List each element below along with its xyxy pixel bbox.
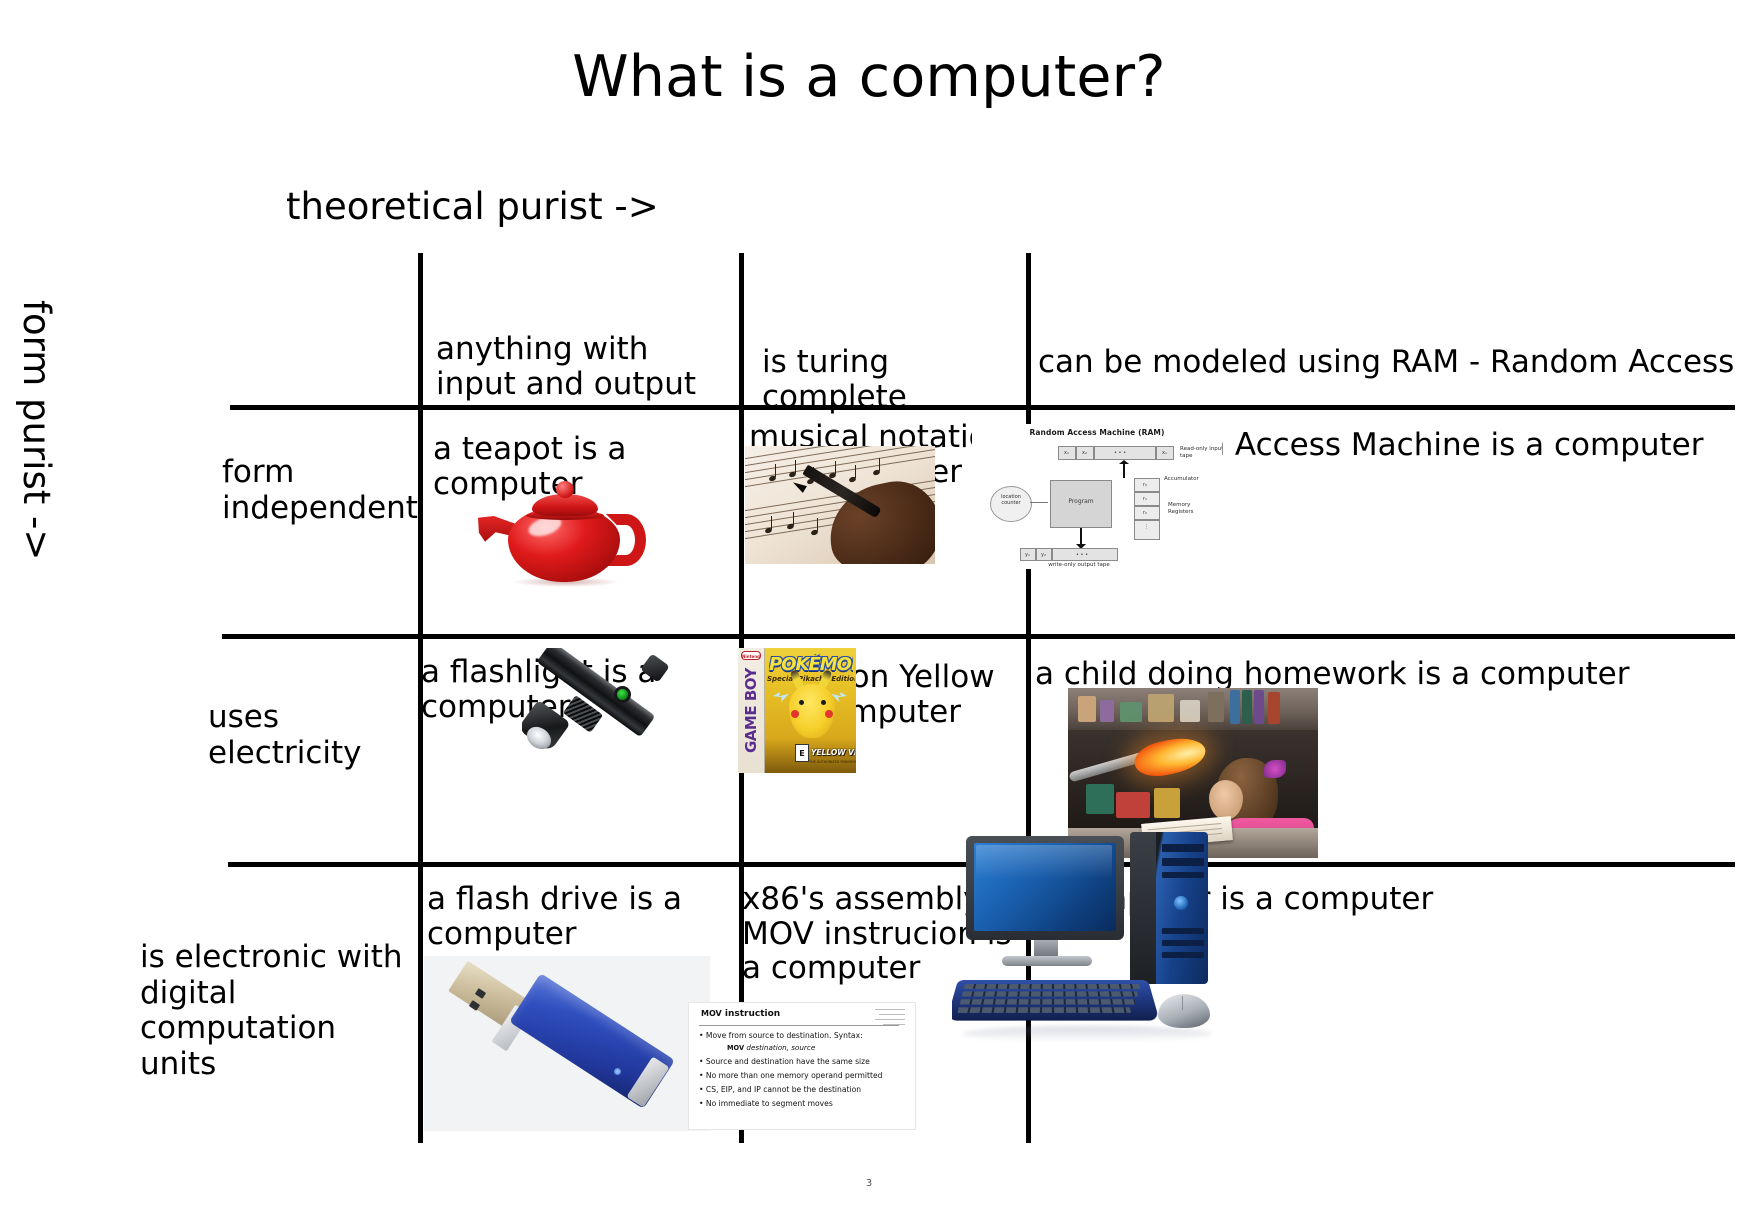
- column-header-turing-complete: is turing complete: [762, 345, 1032, 414]
- column-header-input-output: anything with input and output: [436, 332, 726, 401]
- nintendo-logo: Nintendo: [741, 651, 761, 660]
- pokemon-subtitle: Special Pikachu Edition: [767, 675, 855, 683]
- ram-register-ellipsis: ⋮: [1144, 524, 1149, 530]
- ram-input-cell-0: x₁: [1064, 450, 1069, 456]
- ram-location-counter-label: location counter: [994, 494, 1028, 507]
- pokemon-logo: POKÉMON: [769, 654, 853, 675]
- page-title: What is a computer?: [0, 46, 1738, 109]
- teapot-photo: [470, 470, 660, 595]
- ram-input-cell-1: x₂: [1082, 450, 1087, 456]
- ram-output-cell-0: y₁: [1025, 552, 1030, 558]
- mov-bullet-0: Move from source to destination. Syntax:: [699, 1031, 863, 1040]
- usb-flash-drive-photo: [424, 956, 710, 1131]
- mov-slide-title: MOV instruction: [701, 1009, 780, 1019]
- mov-syntax-mnemonic: MOV: [727, 1044, 744, 1052]
- flashlight-photo: [522, 648, 670, 760]
- mov-bullet-4: No immediate to segment moves: [699, 1099, 833, 1108]
- matrix-horizontal-divider-2: [222, 634, 1735, 639]
- flashlight-power-button-icon: [614, 686, 631, 703]
- cell-label-flash-drive: a flash drive is a computer: [427, 882, 717, 951]
- mov-mnemonic: MOV: [701, 1009, 722, 1018]
- ram-diagram: Random Access Machine (RAM) x₁ x₂ • • • …: [972, 424, 1222, 569]
- ram-output-cell-1: y₂: [1041, 552, 1046, 558]
- ram-output-tape-label: write-only output tape: [1024, 562, 1134, 569]
- ram-input-cell-n: xₙ: [1162, 450, 1167, 456]
- desktop-computer-photo: [952, 828, 1252, 1043]
- mov-title-rest: instruction: [722, 1009, 780, 1019]
- x-axis-label: theoretical purist ->: [286, 185, 659, 228]
- ram-memory-registers-label: Memory Registers: [1168, 502, 1212, 516]
- ram-register-1: r₁: [1143, 496, 1147, 502]
- ram-diagram-title: Random Access Machine (RAM): [972, 428, 1222, 437]
- ram-program-label: Program: [1052, 498, 1110, 506]
- mov-bullet-1: Source and destination have the same siz…: [699, 1057, 870, 1066]
- esrb-rating-icon: E: [795, 744, 809, 762]
- ram-input-tape-label: Read-only input tape: [1180, 446, 1222, 460]
- gameboy-logo: GAME BOY: [740, 668, 762, 768]
- mov-instruction-slide: MOV instruction Move from source to dest…: [688, 1002, 916, 1130]
- pokemon-fineprint: THE AUTHORIZED POKEMON VIDEO GAME: [809, 760, 856, 764]
- ram-register-2: r₂: [1143, 510, 1147, 516]
- row-header-electronic-digital: is electronic with digital computation u…: [140, 940, 410, 1083]
- mov-syntax-line: MOV destination, source: [727, 1043, 815, 1052]
- page-number: 3: [0, 1178, 1738, 1189]
- ram-register-0: r₀: [1143, 482, 1147, 488]
- pokemon-yellow-boxart: Nintendo GAME BOY POKÉMON Special Pikach…: [738, 648, 856, 773]
- y-axis-label: form purist ->: [15, 300, 58, 560]
- pokemon-version-label: YELLOW VERSION: [811, 748, 855, 757]
- column-header-ram-model: can be modeled using RAM - Random Access…: [1038, 345, 1728, 380]
- ram-accumulator-label: Accumulator: [1164, 476, 1214, 483]
- mov-slide-divider: [699, 1025, 899, 1026]
- mov-slide-corner-graphic: [875, 1007, 909, 1027]
- row-header-uses-electricity: uses electricity: [208, 700, 423, 771]
- mov-syntax-operands: destination, source: [744, 1043, 815, 1052]
- sheet-music-photo: [745, 446, 935, 564]
- cell-label-child-homework: a child doing homework is a computer: [1035, 657, 1725, 692]
- mov-bullet-3: CS, EIP, and IP cannot be the destinatio…: [699, 1085, 861, 1094]
- row-header-form-independent: form independent: [222, 455, 412, 526]
- ram-output-cell-ellipsis: • • •: [1076, 552, 1088, 558]
- ram-input-cell-ellipsis: • • •: [1114, 450, 1126, 456]
- mov-bullet-2: No more than one memory operand permitte…: [699, 1071, 882, 1080]
- power-button-icon: [1174, 896, 1188, 910]
